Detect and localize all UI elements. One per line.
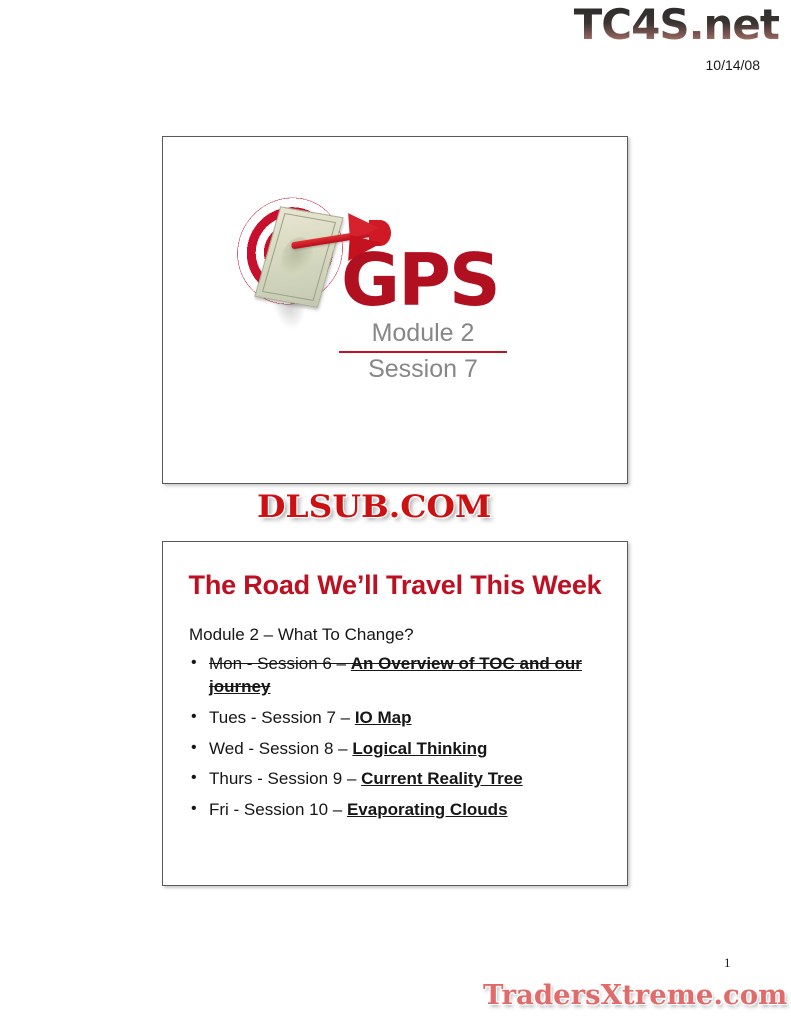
agenda-item-topic: Logical Thinking [352, 739, 487, 758]
agenda-item-lead: Tues - Session 7 – [209, 708, 355, 727]
dlsub-watermark: DLSUB.COM [257, 489, 491, 525]
gps-title: GPS [341, 244, 499, 316]
gps-subtitle: Module 2 Session 7 [339, 318, 507, 385]
agenda-item-lead: Wed - Session 8 – [209, 739, 352, 758]
agenda-item-lead: Mon - Session 6 – [209, 654, 351, 673]
agenda-item-lead: Thurs - Session 9 – [209, 769, 361, 788]
tradersxtreme-brand-logo: TradersXtreme.com [483, 980, 787, 1011]
agenda-item: Mon - Session 6 – An Overview of TOC and… [187, 653, 609, 699]
agenda-list: Mon - Session 6 – An Overview of TOC and… [187, 653, 609, 822]
agenda-item-topic: Evaporating Clouds [347, 800, 508, 819]
page-number: 1 [724, 955, 731, 971]
slide-two-title: The Road We’ll Travel This Week [163, 570, 627, 601]
agenda-item-lead: Fri - Session 10 – [209, 800, 347, 819]
header-date: 10/14/08 [706, 57, 761, 73]
agenda-lead-text: Module 2 – What To Change? [189, 624, 609, 645]
agenda-item: Thurs - Session 9 – Current Reality Tree [187, 768, 609, 791]
agenda-item-topic: Current Reality Tree [361, 769, 523, 788]
agenda-item: Wed - Session 8 – Logical Thinking [187, 738, 609, 761]
agenda-item: Tues - Session 7 – IO Map [187, 707, 609, 730]
slide-two-frame: The Road We’ll Travel This Week Module 2… [162, 541, 628, 886]
gps-session-line: Session 7 [339, 353, 507, 386]
slide-two-body: Module 2 – What To Change? Mon - Session… [187, 624, 609, 830]
gps-module-line: Module 2 [339, 318, 507, 353]
tc4s-site-logo: TC4S.net [574, 4, 779, 46]
slide-one-frame: GPS Module 2 Session 7 [162, 136, 628, 484]
gps-logo-block: GPS Module 2 Session 7 [229, 192, 569, 382]
agenda-item-topic: IO Map [355, 708, 412, 727]
agenda-item: Fri - Session 10 – Evaporating Clouds [187, 799, 609, 822]
